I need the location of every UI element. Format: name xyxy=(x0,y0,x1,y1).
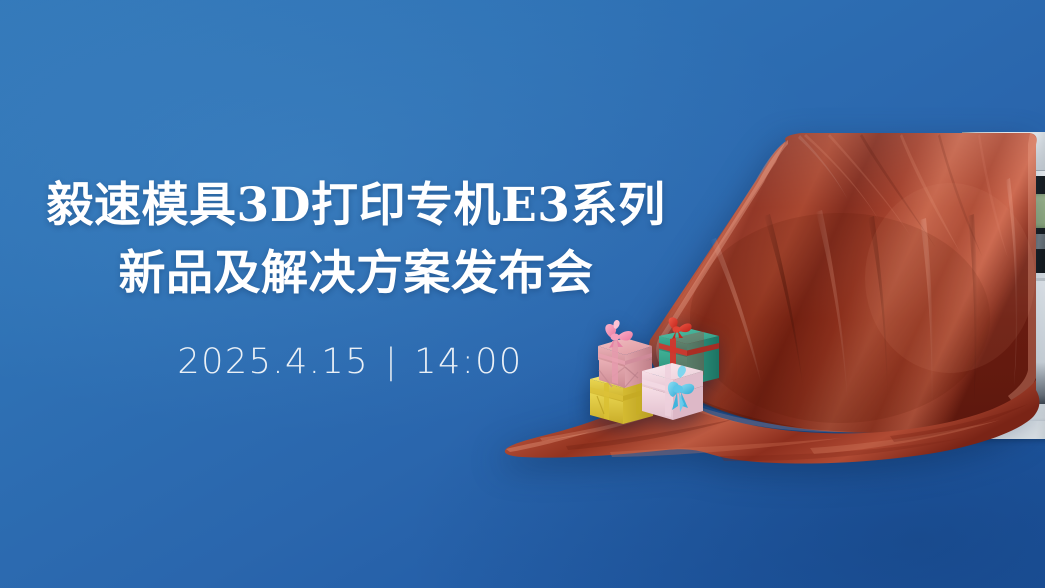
headline-line-1: 毅速模具3D打印专机E3系列 xyxy=(0,172,712,240)
event-time: 14:00 xyxy=(414,342,522,382)
event-date: 2025.4.15 xyxy=(177,342,369,382)
event-banner: 毅速模具3D打印专机E3系列 新品及解决方案发布会 2025.4.15|14:0… xyxy=(0,0,1045,588)
headline-line-2: 新品及解决方案发布会 xyxy=(0,240,712,308)
headline-block: 毅速模具3D打印专机E3系列 新品及解决方案发布会 xyxy=(0,172,712,308)
event-datetime: 2025.4.15|14:00 xyxy=(0,342,700,382)
datetime-separator: | xyxy=(369,342,414,382)
